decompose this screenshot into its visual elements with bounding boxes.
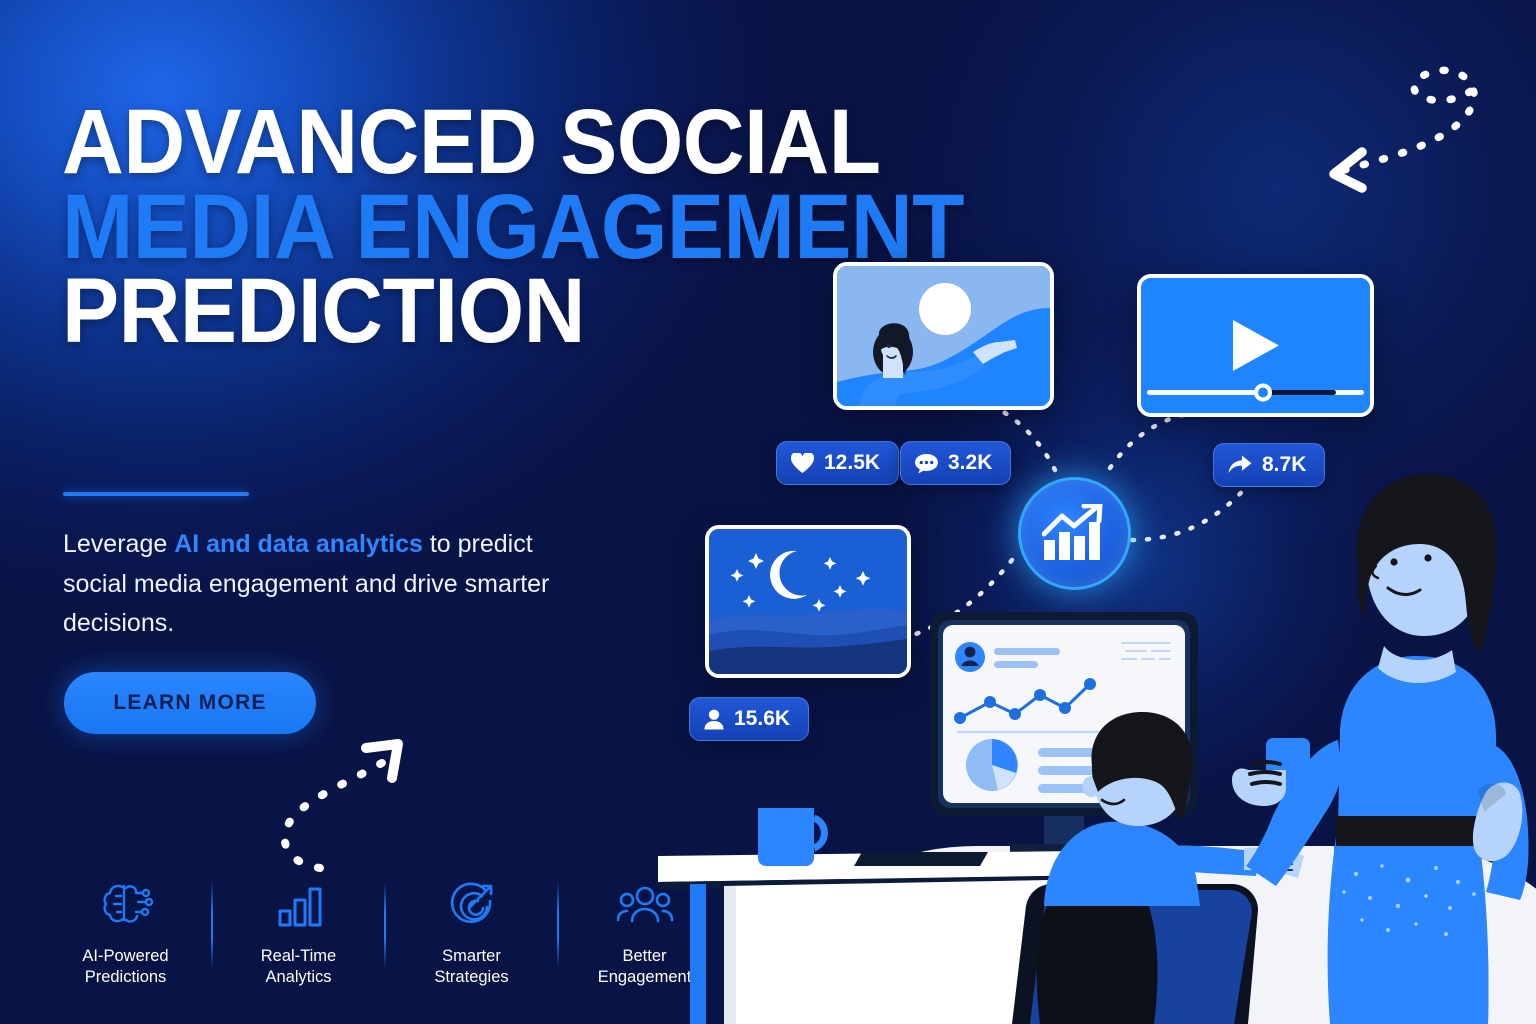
feature-item-real-time-analytics[interactable]: Real-Time Analytics <box>213 878 384 988</box>
subcopy-before: Leverage <box>63 530 174 558</box>
feature-label: Real-Time Analytics <box>261 946 336 988</box>
learn-more-button[interactable]: LEARN MORE <box>64 672 316 734</box>
feature-item-smarter-strategies[interactable]: Smarter Strategies <box>386 878 557 988</box>
pie-chart <box>966 739 1018 791</box>
feature-item-ai-powered-predictions[interactable]: AI-Powered Predictions <box>40 878 211 988</box>
target-arrow-icon <box>445 878 499 934</box>
bar-chart-icon <box>274 878 324 934</box>
brain-circuit-icon <box>98 878 154 934</box>
dashed-curved-arrow-icon <box>262 730 427 885</box>
subheadline: Leverage AI and data analytics to predic… <box>63 525 563 644</box>
workspace-illustration <box>640 0 1536 1024</box>
feature-label: Smarter Strategies <box>434 946 508 988</box>
feature-list: AI-Powered Predictions Real-Time Analyti… <box>40 878 730 1008</box>
hero-banner: ADVANCED SOCIAL MEDIA ENGAGEMENT PREDICT… <box>0 0 1536 1024</box>
subcopy-highlight: AI and data analytics <box>174 530 423 558</box>
feature-label: AI-Powered Predictions <box>82 946 168 988</box>
accent-rule <box>63 492 249 496</box>
illustration-scene: 12.5K 3.2K 8.7K 15.6K <box>640 0 1536 1024</box>
